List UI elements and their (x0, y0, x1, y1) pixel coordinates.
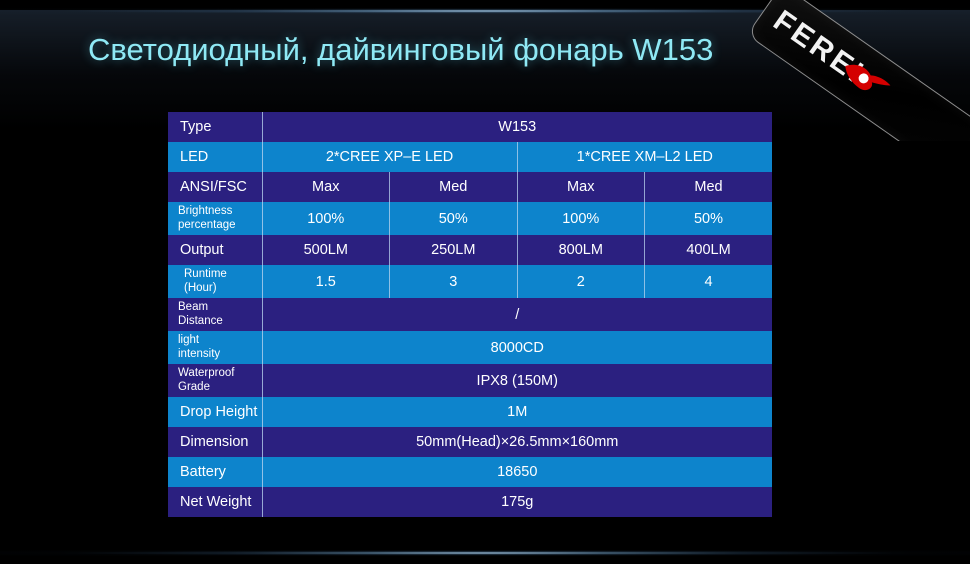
table-row: Waterproof Grade IPX8 (150M) (168, 364, 772, 397)
row-value-output-3: 800LM (517, 235, 645, 265)
row-value-beam-distance: / (262, 298, 772, 331)
row-label-brightness: Brightness percentage (168, 202, 262, 235)
row-value-waterproof-grade: IPX8 (150M) (262, 364, 772, 397)
row-label-net-weight: Net Weight (168, 487, 262, 517)
row-label-intensity-line2: intensity (178, 348, 262, 362)
row-label-dimension: Dimension (168, 427, 262, 457)
row-label-intensity-line1: light (178, 334, 262, 348)
row-value-runtime-3: 2 (517, 265, 645, 298)
row-value-brightness-4: 50% (645, 202, 773, 235)
row-value-runtime-2: 3 (390, 265, 518, 298)
row-label-waterproof-line1: Waterproof (178, 367, 262, 381)
row-label-ansi-fsc: ANSI/FSC (168, 172, 262, 202)
top-glow-line (0, 8, 970, 14)
logo-wordmark: FEREI (767, 4, 871, 91)
row-value-brightness-1: 100% (262, 202, 390, 235)
row-value-runtime-1: 1.5 (262, 265, 390, 298)
row-label-battery: Battery (168, 457, 262, 487)
row-value-brightness-3: 100% (517, 202, 645, 235)
row-value-led-a: 2*CREE XP–E LED (262, 142, 517, 172)
row-label-drop-height: Drop Height (168, 397, 262, 427)
row-value-output-4: 400LM (645, 235, 773, 265)
row-value-ansi-2: Med (390, 172, 518, 202)
row-value-led-b: 1*CREE XM–L2 LED (517, 142, 772, 172)
table-row: Brightness percentage 100% 50% 100% 50% (168, 202, 772, 235)
row-label-beam-distance: Beam Distance (168, 298, 262, 331)
row-value-type: W153 (262, 112, 772, 142)
table-row: light intensity 8000CD (168, 331, 772, 364)
bottom-glow-line (0, 550, 970, 556)
row-label-type: Type (168, 112, 262, 142)
row-value-light-intensity: 8000CD (262, 331, 772, 364)
table-row: Net Weight 175g (168, 487, 772, 517)
row-value-runtime-4: 4 (645, 265, 773, 298)
row-value-ansi-4: Med (645, 172, 773, 202)
row-label-brightness-line2: percentage (178, 219, 262, 233)
row-value-output-2: 250LM (390, 235, 518, 265)
logo-banner: FEREI (746, 0, 970, 141)
row-label-output: Output (168, 235, 262, 265)
table-row: Beam Distance / (168, 298, 772, 331)
row-value-battery: 18650 (262, 457, 772, 487)
row-value-output-1: 500LM (262, 235, 390, 265)
row-label-runtime-line1: Runtime (184, 268, 262, 282)
row-value-net-weight: 175g (262, 487, 772, 517)
row-label-waterproof-line2: Grade (178, 381, 262, 395)
table-row: ANSI/FSC Max Med Max Med (168, 172, 772, 202)
row-label-brightness-line1: Brightness (178, 205, 262, 219)
row-label-waterproof-grade: Waterproof Grade (168, 364, 262, 397)
row-label-beam-line1: Beam (178, 301, 262, 315)
row-value-dimension: 50mm(Head)×26.5mm×160mm (262, 427, 772, 457)
table-row: Battery 18650 (168, 457, 772, 487)
specification-table: Type W153 LED 2*CREE XP–E LED 1*CREE XM–… (168, 112, 772, 517)
table-row: Type W153 (168, 112, 772, 142)
row-value-brightness-2: 50% (390, 202, 518, 235)
table-row: Dimension 50mm(Head)×26.5mm×160mm (168, 427, 772, 457)
brand-logo: FEREI (740, 0, 970, 141)
table-row: Output 500LM 250LM 800LM 400LM (168, 235, 772, 265)
row-label-led: LED (168, 142, 262, 172)
row-label-light-intensity: light intensity (168, 331, 262, 364)
table-row: Drop Height 1M (168, 397, 772, 427)
flame-eye-icon (836, 54, 894, 105)
table-row: LED 2*CREE XP–E LED 1*CREE XM–L2 LED (168, 142, 772, 172)
row-value-ansi-1: Max (262, 172, 390, 202)
row-value-drop-height: 1M (262, 397, 772, 427)
row-label-beam-line2: Distance (178, 315, 262, 329)
row-label-runtime: Runtime (Hour) (168, 265, 262, 298)
row-label-runtime-line2: (Hour) (184, 282, 262, 296)
page-title: Светодиодный, дайвинговый фонарь W153 (88, 32, 713, 68)
table-row: Runtime (Hour) 1.5 3 2 4 (168, 265, 772, 298)
row-value-ansi-3: Max (517, 172, 645, 202)
